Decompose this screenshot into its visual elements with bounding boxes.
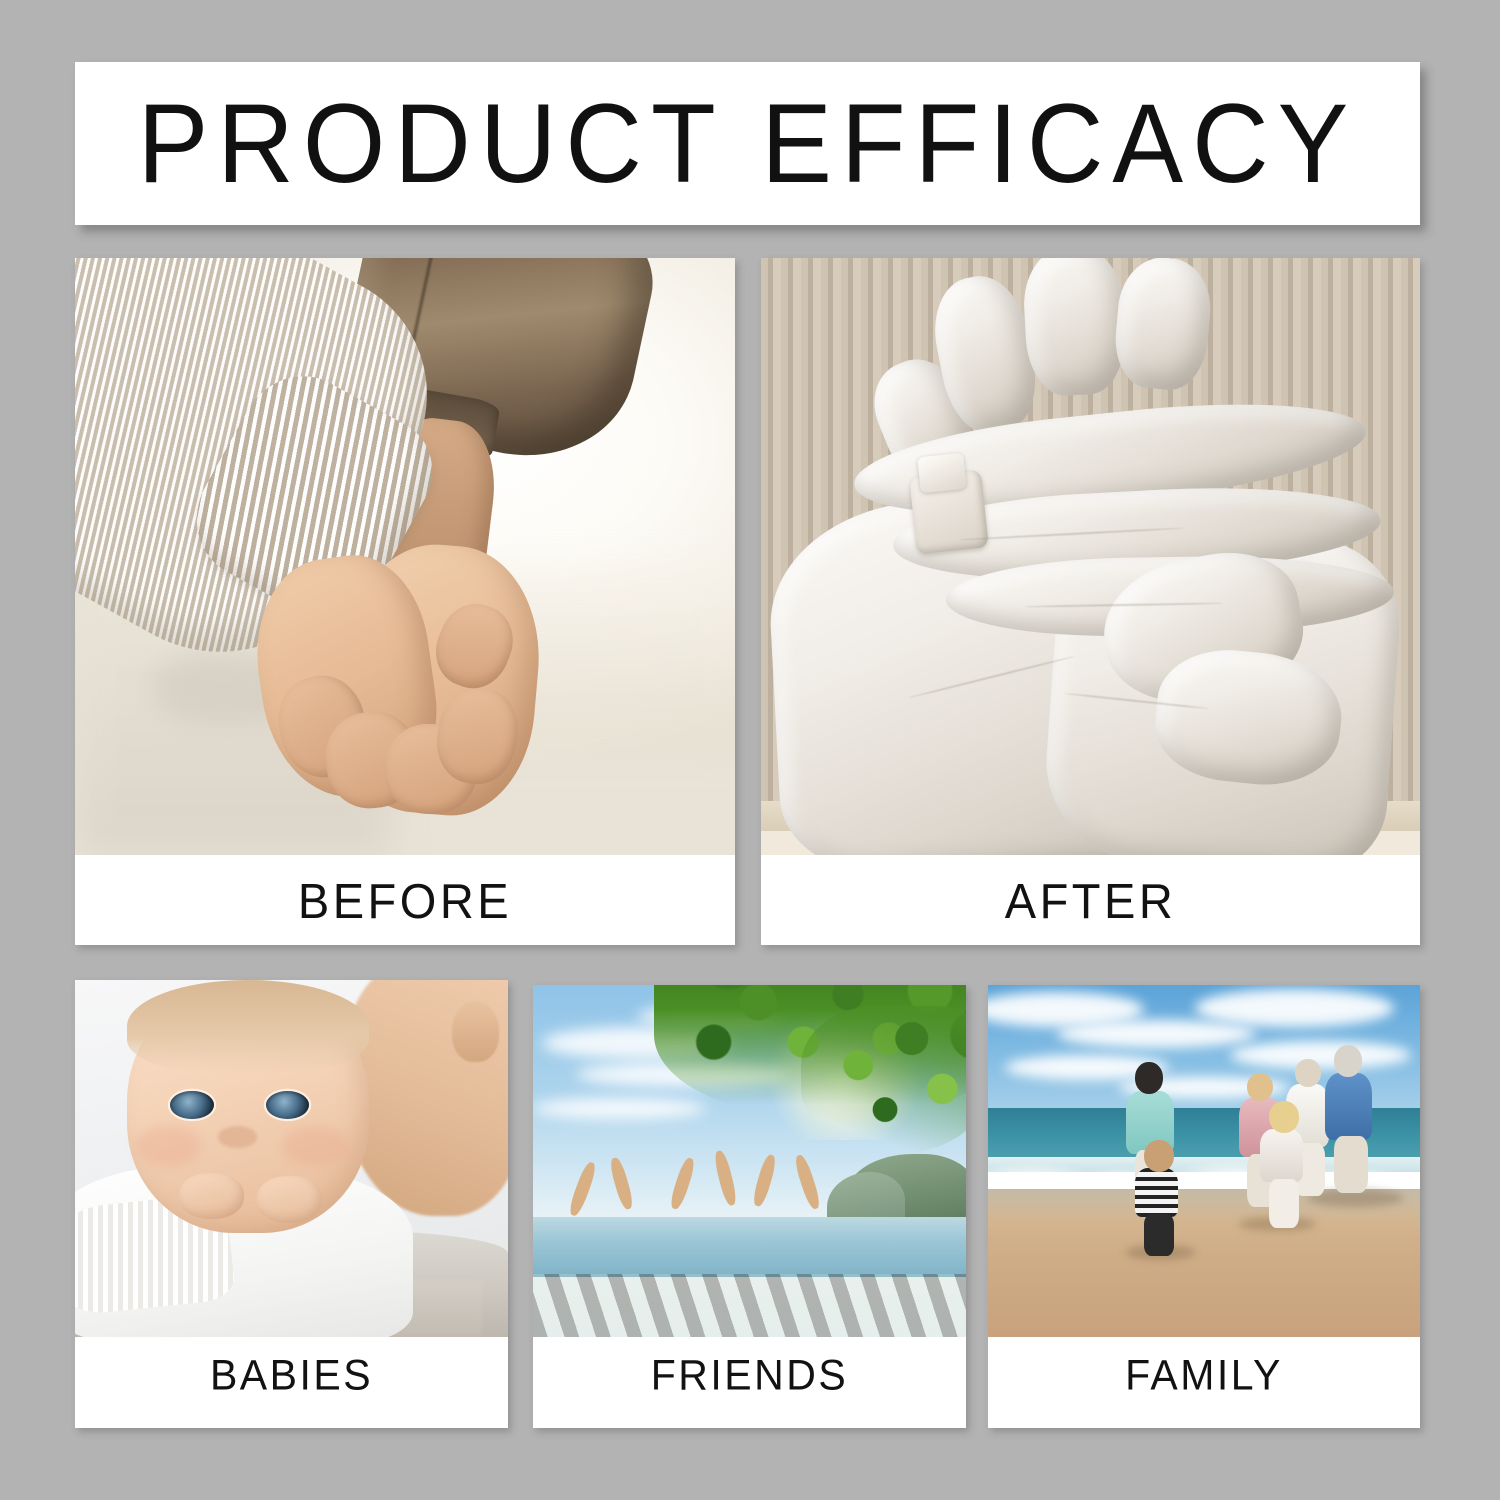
plaster-hand-cast-photo	[761, 258, 1420, 855]
before-card[interactable]: BEFORE	[75, 258, 735, 945]
babies-card[interactable]: BABIES	[75, 980, 508, 1428]
babies-caption: BABIES	[75, 1337, 508, 1428]
babies-label: BABIES	[210, 1354, 373, 1397]
infographic-root: PRODUCT EFFICACY BEFORE	[0, 0, 1500, 1500]
after-caption: AFTER	[761, 855, 1420, 945]
family-label: FAMILY	[1125, 1354, 1283, 1397]
friends-on-dock-photo	[533, 985, 966, 1337]
couple-holding-hands-photo	[75, 258, 735, 855]
friends-card[interactable]: FRIENDS	[533, 985, 966, 1428]
family-card[interactable]: FAMILY	[988, 985, 1420, 1428]
page-title: PRODUCT EFFICACY	[138, 87, 1358, 199]
family-caption: FAMILY	[988, 1337, 1420, 1428]
family-on-beach-photo	[988, 985, 1420, 1337]
before-caption: BEFORE	[75, 855, 735, 945]
after-card[interactable]: AFTER	[761, 258, 1420, 945]
friends-caption: FRIENDS	[533, 1337, 966, 1428]
title-banner: PRODUCT EFFICACY	[75, 62, 1420, 225]
after-label: AFTER	[1005, 875, 1177, 924]
before-label: BEFORE	[298, 875, 512, 924]
baby-portrait-photo	[75, 980, 508, 1337]
friends-label: FRIENDS	[651, 1354, 848, 1397]
